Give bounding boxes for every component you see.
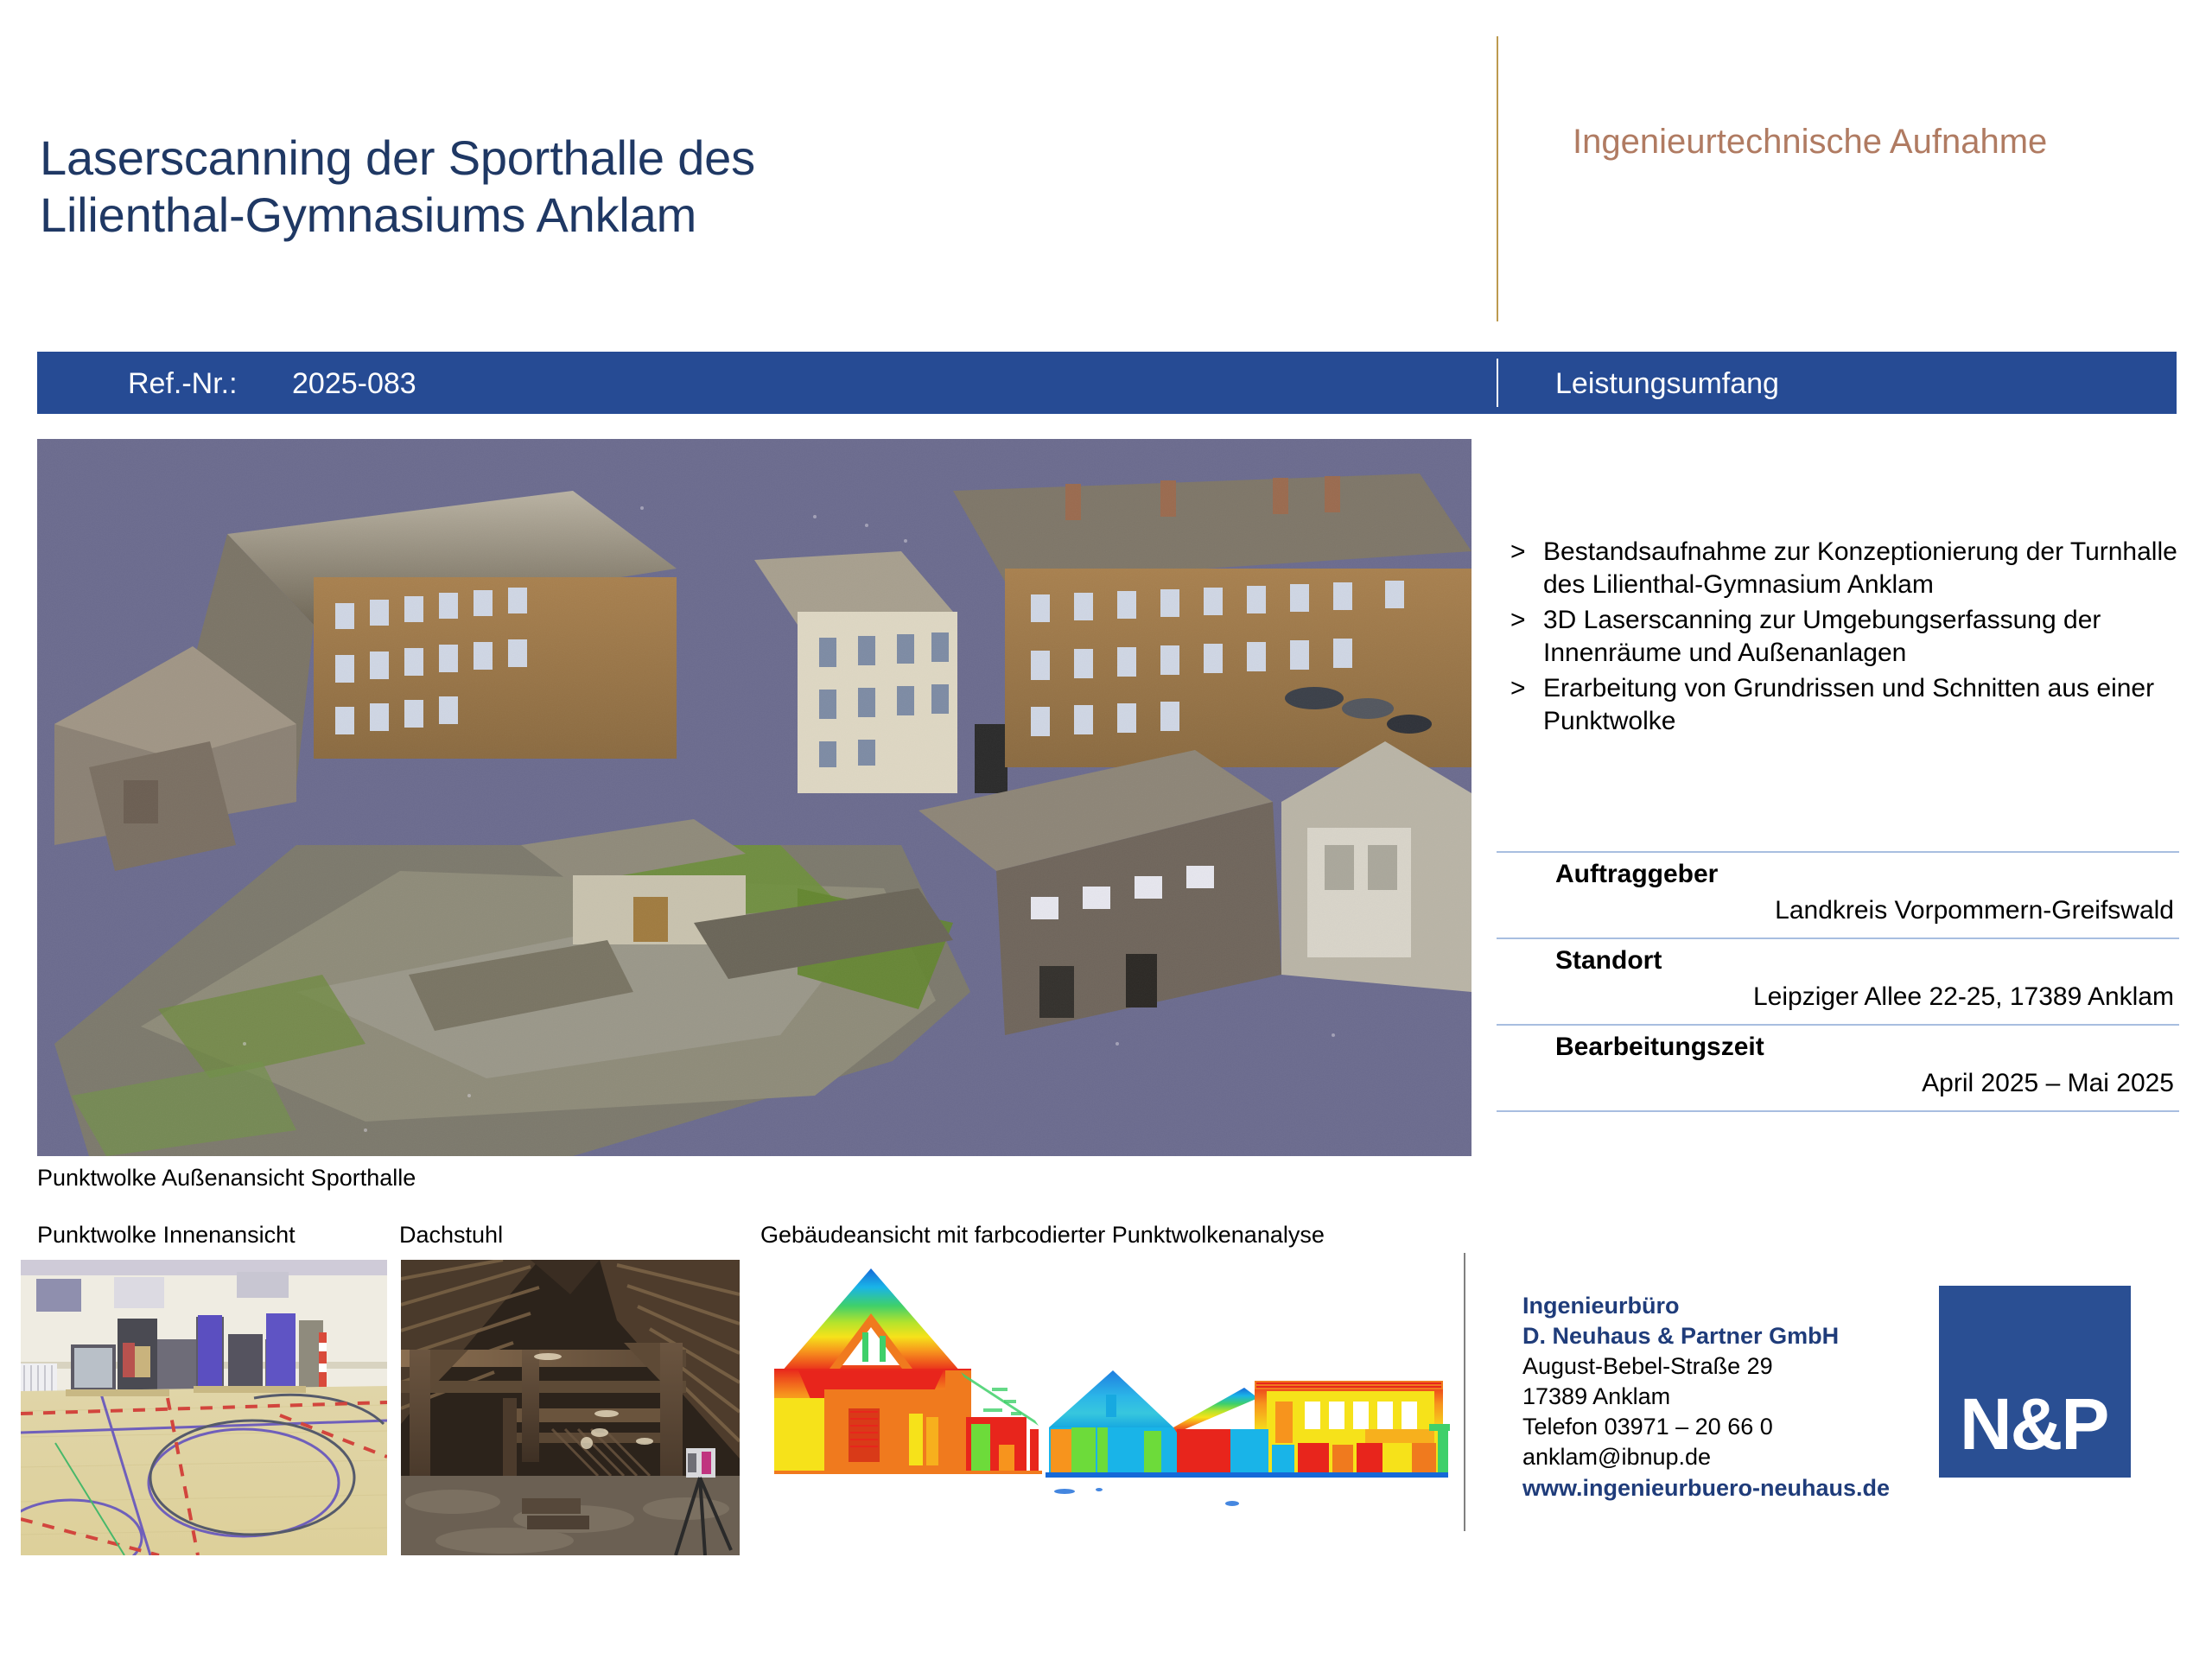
- info-label: Bearbeitungszeit: [1497, 1033, 2179, 1062]
- np-logo: N&P: [1939, 1286, 2131, 1478]
- company-email[interactable]: anklam@ibnup.de: [1522, 1442, 1972, 1472]
- project-info-table: Auftraggeber Landkreis Vorpommern-Greifs…: [1497, 851, 2179, 1112]
- list-item-label: Bestandsaufnahme zur Konzeptionierung de…: [1543, 536, 2202, 602]
- caption-color-coded: Gebäudeansicht mit farbcodierter Punktwo…: [760, 1222, 1325, 1249]
- info-label: Auftraggeber: [1497, 860, 2179, 889]
- bar-vertical-divider: [1497, 359, 1498, 407]
- company-website[interactable]: www.ingenieurbuero-neuhaus.de: [1522, 1473, 1972, 1503]
- list-item: > 3D Laserscanning zur Umgebungserfassun…: [1510, 604, 2202, 671]
- caption-roof-truss: Dachstuhl: [399, 1222, 503, 1249]
- list-item-label: Erarbeitung von Grundrissen und Schnitte…: [1543, 672, 2202, 739]
- reference-number-value: 2025-083: [292, 367, 416, 401]
- thumbnail-roof-truss-photo: [401, 1260, 740, 1555]
- company-name-line-1: Ingenieurbüro: [1522, 1291, 1972, 1321]
- scope-bullet-list: > Bestandsaufnahme zur Konzeptionierung …: [1510, 536, 2202, 740]
- scope-section-title: Leistungsumfang: [1555, 367, 1779, 401]
- chevron-right-icon: >: [1510, 536, 1543, 569]
- table-row: Standort Leipziger Allee 22-25, 17389 An…: [1497, 938, 2179, 1024]
- table-row: Auftraggeber Landkreis Vorpommern-Greifs…: [1497, 851, 2179, 938]
- list-item: > Bestandsaufnahme zur Konzeptionierung …: [1510, 536, 2202, 602]
- list-item: > Erarbeitung von Grundrissen und Schnit…: [1510, 672, 2202, 739]
- thumbnail-interior-pointcloud: [21, 1260, 387, 1555]
- table-row: Bearbeitungszeit April 2025 – Mai 2025: [1497, 1024, 2179, 1112]
- reference-number-label: Ref.-Nr.:: [128, 367, 238, 401]
- caption-main-image: Punktwolke Außenansicht Sporthalle: [37, 1165, 416, 1192]
- caption-interior: Punktwolke Innenansicht: [37, 1222, 296, 1249]
- list-item-label: 3D Laserscanning zur Umgebungserfassung …: [1543, 604, 2202, 671]
- info-value: April 2025 – Mai 2025: [1497, 1062, 2179, 1098]
- company-address-block: Ingenieurbüro D. Neuhaus & Partner GmbH …: [1522, 1291, 1972, 1503]
- company-city: 17389 Anklam: [1522, 1382, 1972, 1412]
- company-phone: Telefon 03971 – 20 66 0: [1522, 1412, 1972, 1442]
- info-value: Leipziger Allee 22-25, 17389 Anklam: [1497, 976, 2179, 1012]
- pointcloud-exterior-image: [37, 439, 1471, 1156]
- page-title: Laserscanning der Sporthalle des Lilient…: [40, 130, 1059, 244]
- info-label: Standort: [1497, 946, 2179, 976]
- header-subtitle: Ingenieurtechnische Aufnahme: [1573, 123, 2047, 162]
- company-street: August-Bebel-Straße 29: [1522, 1351, 1972, 1382]
- chevron-right-icon: >: [1510, 604, 1543, 637]
- logo-text: N&P: [1960, 1388, 2107, 1460]
- thumbnail-color-coded-elevation: [760, 1260, 1452, 1545]
- company-name-line-2: D. Neuhaus & Partner GmbH: [1522, 1321, 1972, 1351]
- footer-vertical-divider: [1464, 1253, 1465, 1531]
- page-title-line-2: Lilienthal-Gymnasiums Anklam: [40, 187, 1059, 244]
- header-vertical-divider: [1497, 36, 1498, 321]
- info-value: Landkreis Vorpommern-Greifswald: [1497, 889, 2179, 925]
- page-title-line-1: Laserscanning der Sporthalle des: [40, 130, 1059, 187]
- chevron-right-icon: >: [1510, 672, 1543, 705]
